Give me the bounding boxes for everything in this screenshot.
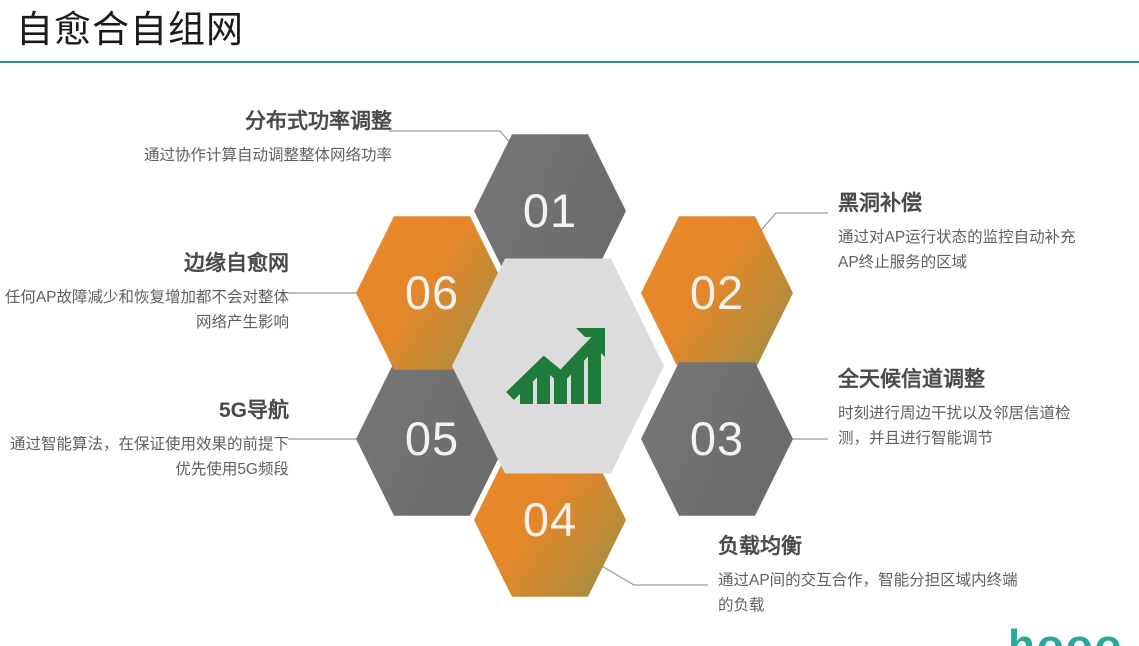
growth-chart-icon xyxy=(504,320,612,412)
item-02-desc: 通过对AP运行状态的监控自动补充AP终止服务的区域 xyxy=(838,225,1078,275)
item-02: 黑洞补偿 通过对AP运行状态的监控自动补充AP终止服务的区域 xyxy=(838,190,1078,275)
hexagon-number-02: 02 xyxy=(690,265,744,320)
slide-canvas: 自愈合自组网 01 02 03 04 05 0 xyxy=(0,0,1139,646)
watermark-logo: hooo xyxy=(1008,624,1124,646)
item-05-desc: 通过智能算法，在保证使用效果的前提下优先使用5G频段 xyxy=(4,432,289,482)
item-06-desc: 任何AP故障减少和恢复增加都不会对整体网络产生影响 xyxy=(4,285,289,335)
item-04-title: 负载均衡 xyxy=(718,533,1018,561)
hexagon-02[interactable]: 02 xyxy=(641,213,793,373)
hexagon-number-03: 03 xyxy=(690,411,744,466)
item-06-title: 边缘自愈网 xyxy=(4,250,289,278)
hexagon-03[interactable]: 03 xyxy=(641,359,793,519)
item-03-title: 全天候信道调整 xyxy=(838,366,1073,394)
item-03: 全天候信道调整 时刻进行周边干扰以及邻居信道检测，并且进行智能调节 xyxy=(838,366,1073,451)
item-01-desc: 通过协作计算自动调整整体网络功率 xyxy=(12,143,392,168)
hexagon-number-01: 01 xyxy=(523,183,577,238)
item-06: 边缘自愈网 任何AP故障减少和恢复增加都不会对整体网络产生影响 xyxy=(4,250,289,335)
item-05: 5G导航 通过智能算法，在保证使用效果的前提下优先使用5G频段 xyxy=(4,397,289,482)
item-01-title: 分布式功率调整 xyxy=(12,108,392,136)
hexagon-number-05: 05 xyxy=(405,411,459,466)
item-01: 分布式功率调整 通过协作计算自动调整整体网络功率 xyxy=(12,108,392,168)
item-05-title: 5G导航 xyxy=(4,397,289,425)
hexagon-number-06: 06 xyxy=(405,265,459,320)
hexagon-number-04: 04 xyxy=(523,492,577,547)
item-02-title: 黑洞补偿 xyxy=(838,190,1078,218)
item-04: 负载均衡 通过AP间的交互合作，智能分担区域内终端的负载 xyxy=(718,533,1018,618)
item-03-desc: 时刻进行周边干扰以及邻居信道检测，并且进行智能调节 xyxy=(838,401,1073,451)
item-04-desc: 通过AP间的交互合作，智能分担区域内终端的负载 xyxy=(718,568,1018,618)
